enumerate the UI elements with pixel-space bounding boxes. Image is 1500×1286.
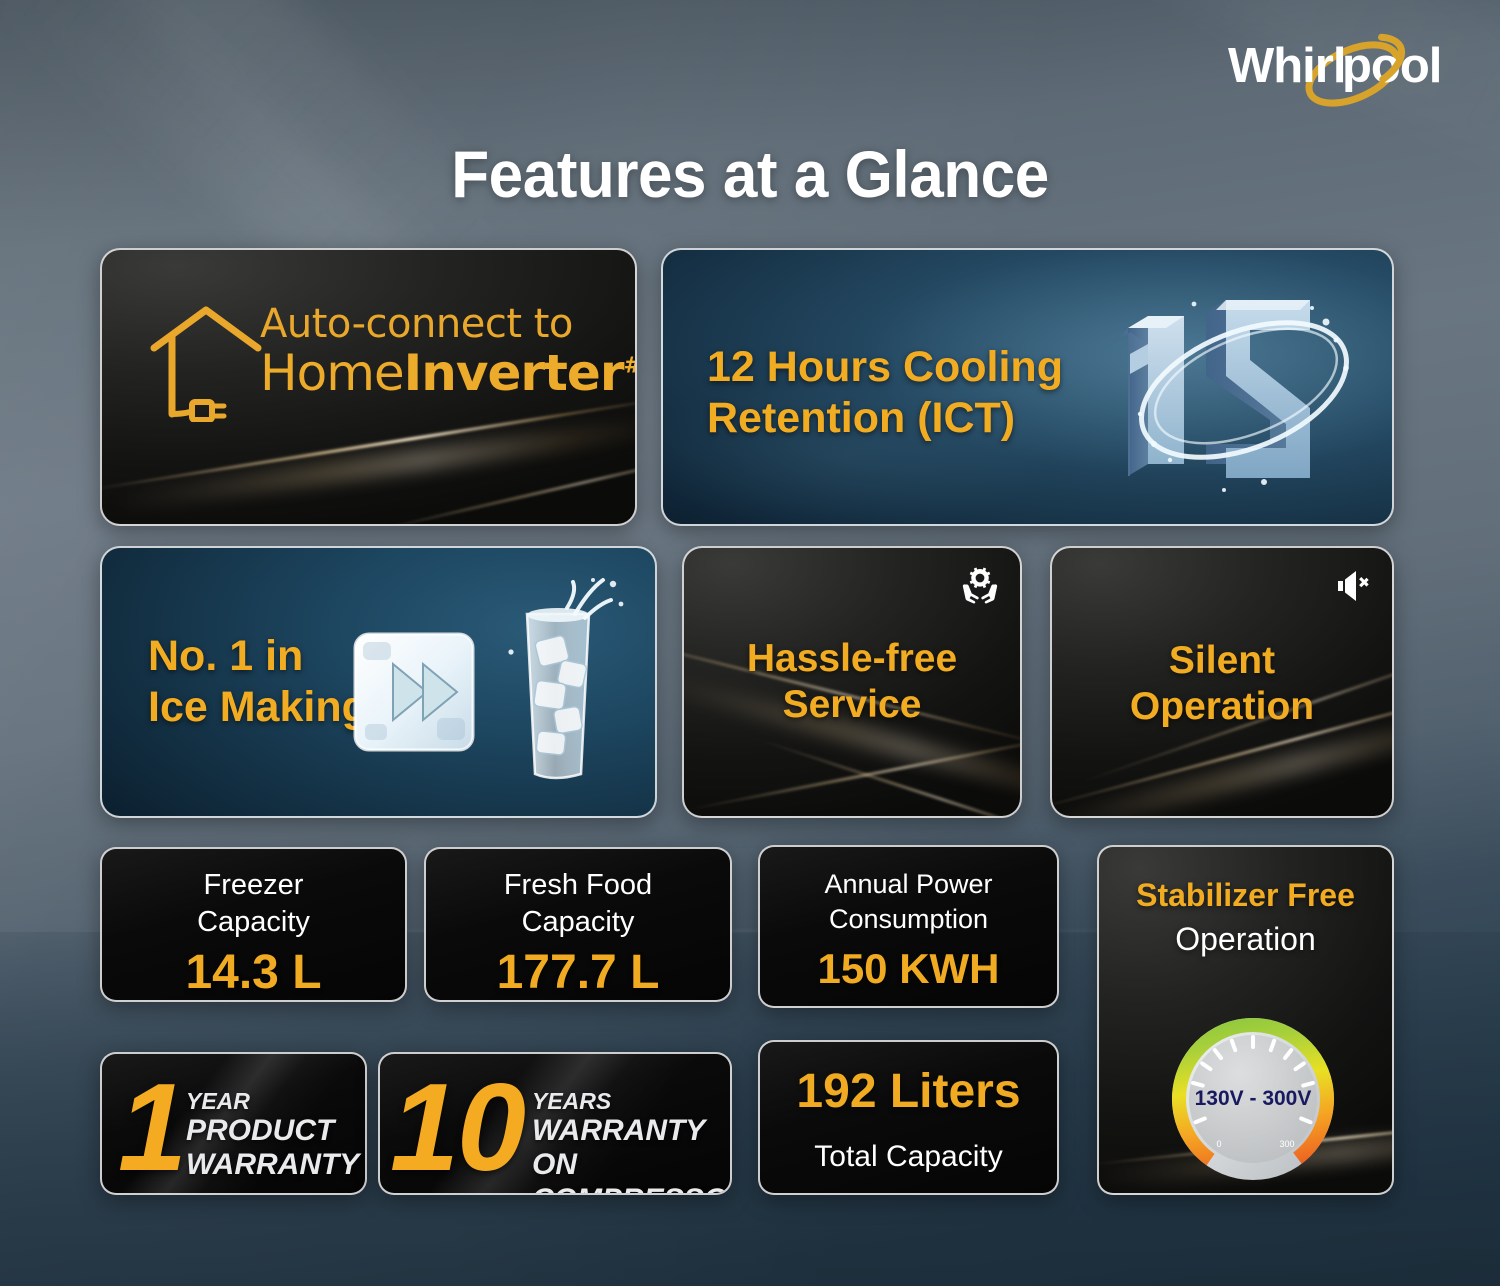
warranty-line2: WARRANTY (186, 1148, 359, 1182)
3d-12-water-splash-icon (1074, 268, 1374, 518)
warranty-text: YEARS WARRANTY ON COMPRESSOR (532, 1088, 732, 1195)
stabilizer-title-white: Operation (1099, 921, 1392, 959)
total-capacity-label: Total Capacity (760, 1138, 1057, 1176)
speaker-mute-icon (1328, 562, 1376, 610)
voltage-gauge-icon: 130V - 300V 0 300 (1169, 1015, 1337, 1183)
hassle-free-title-line1: Hassle-free (684, 636, 1020, 682)
decorative-light-ribbon (682, 730, 1022, 813)
total-capacity-value: 192 Liters (760, 1064, 1057, 1119)
feature-card-silent-operation[interactable]: Silent Operation (1050, 546, 1394, 818)
ice-making-title-line1: No. 1 in (148, 631, 368, 682)
warranty-number: 1 (118, 1066, 185, 1190)
spec-label: Freezer Capacity (102, 867, 405, 941)
warranty-line1: WARRANTY ON (532, 1114, 732, 1182)
spec-value: 14.3 L (102, 945, 405, 1000)
hands-holding-gear-icon (956, 562, 1004, 610)
whirlpool-logo: Whirl pool (1226, 28, 1462, 112)
cooling-retention-title-line1: 12 Hours Cooling (707, 342, 1063, 393)
spec-value: 177.7 L (426, 945, 730, 1000)
home-inverter-lockup: Auto-connect to HomeInverter# (148, 298, 637, 422)
svg-text:pool: pool (1342, 39, 1441, 93)
hassle-free-title-line2: Service (684, 682, 1020, 728)
page-title: Features at a Glance (45, 136, 1455, 212)
spec-card-annual-power-consumption[interactable]: Annual Power Consumption 150 KWH (758, 845, 1059, 1008)
cooling-retention-title: 12 Hours Cooling Retention (ICT) (707, 342, 1063, 443)
gauge-range-label: 130V - 300V (1195, 1087, 1312, 1110)
ice-cube-fast-forward-glass-icon (341, 578, 631, 798)
feature-card-ice-making[interactable]: No. 1 in Ice Making (100, 546, 657, 818)
silent-operation-title-line1: Silent (1052, 638, 1392, 684)
home-inverter-line2: HomeInverter# (260, 346, 637, 401)
warranty-line1: PRODUCT (186, 1114, 359, 1148)
decorative-light-ribbon (357, 439, 637, 526)
feature-card-hassle-free-service[interactable]: Hassle-free Service (682, 546, 1022, 818)
warranty-unit: YEARS (532, 1088, 732, 1114)
silent-operation-title: Silent Operation (1052, 638, 1392, 730)
gauge-max-label: 300 (1279, 1139, 1294, 1149)
ice-making-title-line2: Ice Making (148, 682, 368, 733)
warranty-unit: YEAR (186, 1088, 359, 1114)
home-inverter-word-inverter: Inverter (404, 344, 624, 402)
ice-making-title: No. 1 in Ice Making (148, 631, 368, 732)
decorative-light-ribbon (752, 736, 1022, 818)
svg-text:Whirl: Whirl (1228, 39, 1345, 93)
badge-card-product-warranty[interactable]: 1 YEAR PRODUCT WARRANTY (100, 1052, 367, 1195)
spec-label: Annual Power Consumption (760, 867, 1057, 936)
cooling-retention-title-line2: Retention (ICT) (707, 393, 1063, 444)
badge-card-compressor-warranty[interactable]: 10 YEARS WARRANTY ON COMPRESSOR (378, 1052, 732, 1195)
warranty-number: 10 (390, 1066, 524, 1190)
spec-value: 150 KWH (760, 945, 1057, 993)
feature-card-stabilizer-free[interactable]: Stabilizer Free Operation (1097, 845, 1394, 1195)
hassle-free-title: Hassle-free Service (684, 636, 1020, 728)
spec-card-freezer-capacity[interactable]: Freezer Capacity 14.3 L (100, 847, 407, 1002)
silent-operation-title-line2: Operation (1052, 684, 1392, 730)
feature-card-home-inverter[interactable]: Auto-connect to HomeInverter# (100, 248, 637, 526)
home-inverter-word-home: Home (260, 344, 404, 402)
spec-label-line1: Annual Power (760, 867, 1057, 902)
house-plug-icon (148, 302, 266, 422)
spec-card-fresh-food-capacity[interactable]: Fresh Food Capacity 177.7 L (424, 847, 732, 1002)
warranty-text: YEAR PRODUCT WARRANTY (186, 1088, 359, 1183)
spec-card-total-capacity[interactable]: 192 Liters Total Capacity (758, 1040, 1059, 1195)
warranty-line2: COMPRESSOR (532, 1183, 732, 1195)
spec-label-line1: Fresh Food (426, 867, 730, 904)
home-inverter-line1: Auto-connect to (260, 304, 637, 344)
spec-label-line2: Consumption (760, 902, 1057, 937)
gauge-min-label: 0 (1216, 1139, 1221, 1149)
spec-label-line2: Capacity (426, 904, 730, 941)
spec-label-line2: Capacity (102, 904, 405, 941)
stabilizer-title-gold: Stabilizer Free (1099, 877, 1392, 915)
decorative-light-glow (100, 414, 637, 513)
home-inverter-superscript: # (624, 353, 638, 378)
spec-label: Fresh Food Capacity (426, 867, 730, 941)
spec-label-line1: Freezer (102, 867, 405, 904)
feature-card-cooling-retention[interactable]: 12 Hours Cooling Retention (ICT) (661, 248, 1394, 526)
